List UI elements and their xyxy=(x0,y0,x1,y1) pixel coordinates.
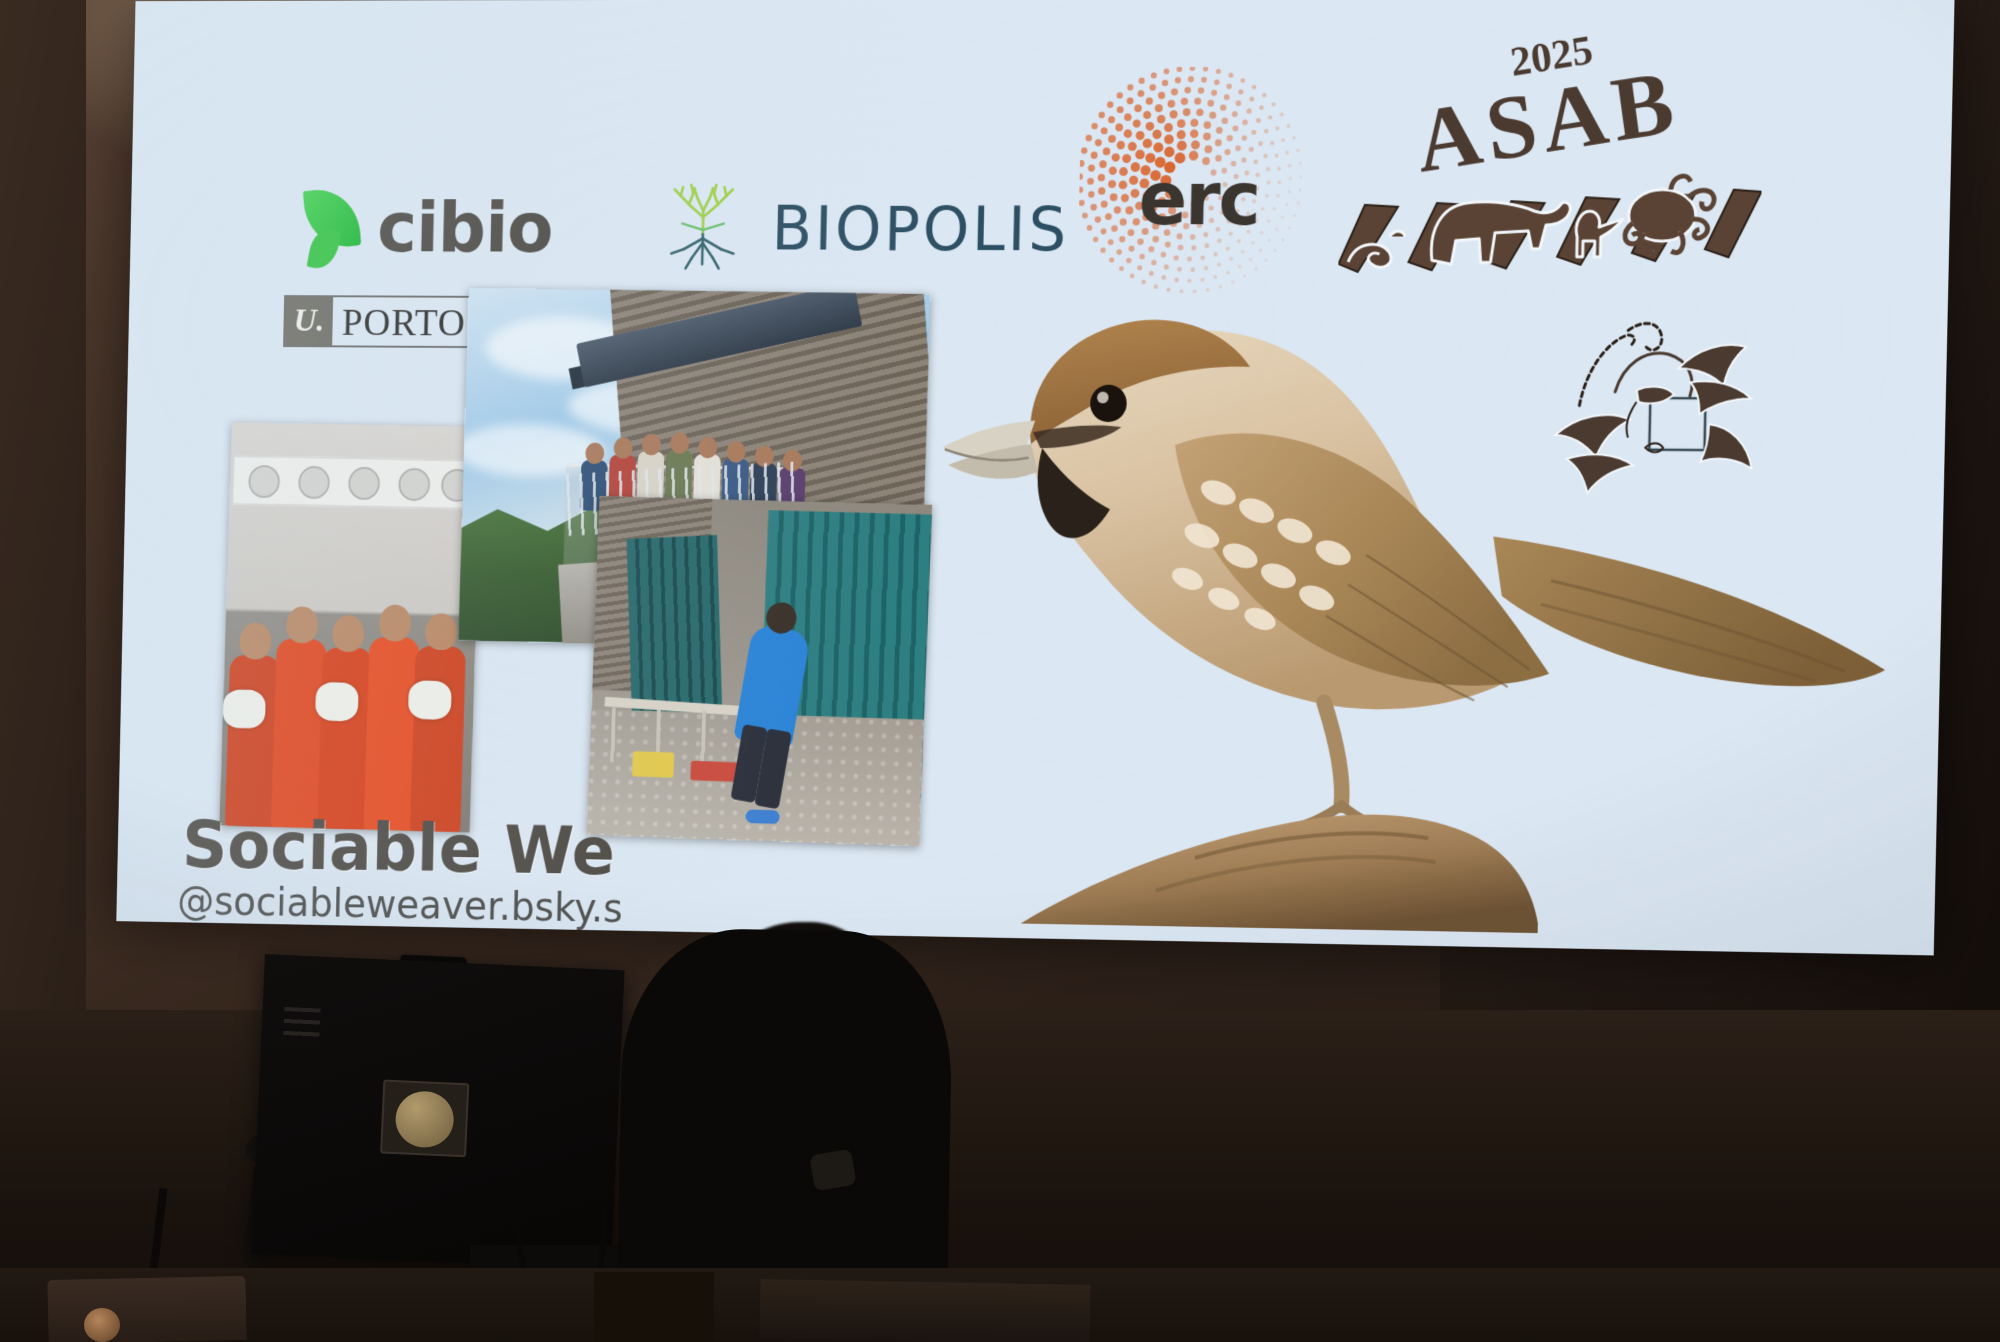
uporto-porto: PORTO xyxy=(332,297,479,346)
monitor-vents xyxy=(283,1007,321,1045)
photo-team-red-coveralls xyxy=(219,422,482,832)
logo-asab: 2025 ASAB xyxy=(1329,16,1766,265)
logo-cibio: cibio xyxy=(291,179,563,276)
desk-box xyxy=(594,1272,714,1342)
left-wall xyxy=(0,0,86,1070)
leaf-icon xyxy=(291,184,365,269)
slide-social-handle: @sociableweaver.bsky.s xyxy=(177,879,623,932)
logo-erc-label: erc xyxy=(1138,157,1260,242)
logo-cibio-label: cibio xyxy=(377,192,554,262)
conference-room-scene: cibio U. PORTO UNIVERSIDADE DO PORTO xyxy=(0,0,2000,1342)
laptop-left-badge xyxy=(84,1308,120,1342)
laptop-right xyxy=(760,1279,1091,1342)
projection-screen: cibio U. PORTO UNIVERSIDADE DO PORTO xyxy=(73,0,1968,996)
slide-title: Sociable We xyxy=(181,807,615,891)
presentation-slide: cibio U. PORTO UNIVERSIDADE DO PORTO xyxy=(116,0,1954,955)
clicker-remote xyxy=(809,1149,857,1192)
photo-sociable-weaver-bird xyxy=(906,238,1904,939)
uporto-mark: U. PORTO xyxy=(283,295,481,348)
photo-field-lab-container xyxy=(587,496,933,846)
uporto-u: U. xyxy=(285,297,333,345)
monitor-vesa-plate xyxy=(380,1079,469,1157)
presentation-monitor xyxy=(251,954,624,1270)
laptop-left xyxy=(47,1276,246,1342)
sociable-weaver-illustration xyxy=(906,238,1904,939)
tree-icon xyxy=(650,174,756,281)
